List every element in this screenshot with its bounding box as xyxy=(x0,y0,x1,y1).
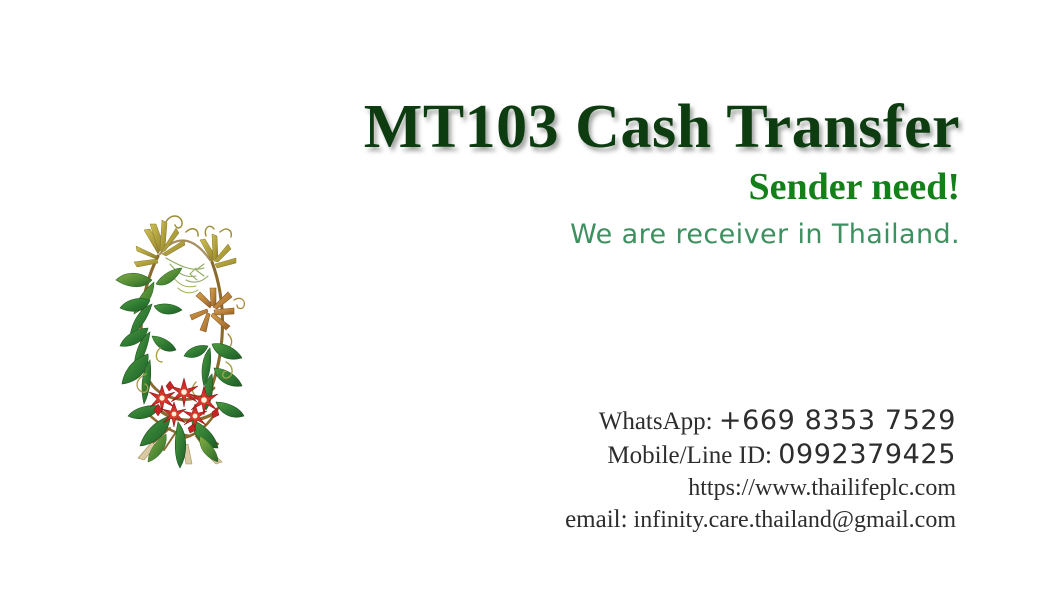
contact-line-whatsapp: WhatsApp: +669 8353 7529 xyxy=(460,404,956,438)
whatsapp-label: WhatsApp: xyxy=(599,408,713,435)
contact-block: WhatsApp: +669 8353 7529 Mobile/Line ID:… xyxy=(460,404,956,536)
page-subtitle: Sender need! xyxy=(300,168,960,208)
page-tagline: We are receiver in Thailand. xyxy=(300,220,960,250)
floral-wreath-illustration xyxy=(100,196,262,472)
headline-block: MT103 Cash Transfer Sender need! We are … xyxy=(300,96,960,250)
website-link[interactable]: https://www.thailifeplc.com xyxy=(688,475,956,501)
poster-canvas: MT103 Cash Transfer Sender need! We are … xyxy=(0,0,1063,600)
whatsapp-number[interactable]: +669 8353 7529 xyxy=(719,405,956,436)
mobile-label: Mobile/Line ID: xyxy=(607,442,772,469)
email-address[interactable]: infinity.care.thailand@gmail.com xyxy=(634,507,956,533)
page-title: MT103 Cash Transfer xyxy=(300,96,960,159)
contact-line-website: https://www.thailifeplc.com xyxy=(460,472,956,504)
email-label: email: xyxy=(565,506,627,533)
mobile-number[interactable]: 0992379425 xyxy=(778,439,956,470)
contact-line-mobile: Mobile/Line ID: 0992379425 xyxy=(460,438,956,472)
contact-line-email: email: infinity.care.thailand@gmail.com xyxy=(460,504,956,536)
